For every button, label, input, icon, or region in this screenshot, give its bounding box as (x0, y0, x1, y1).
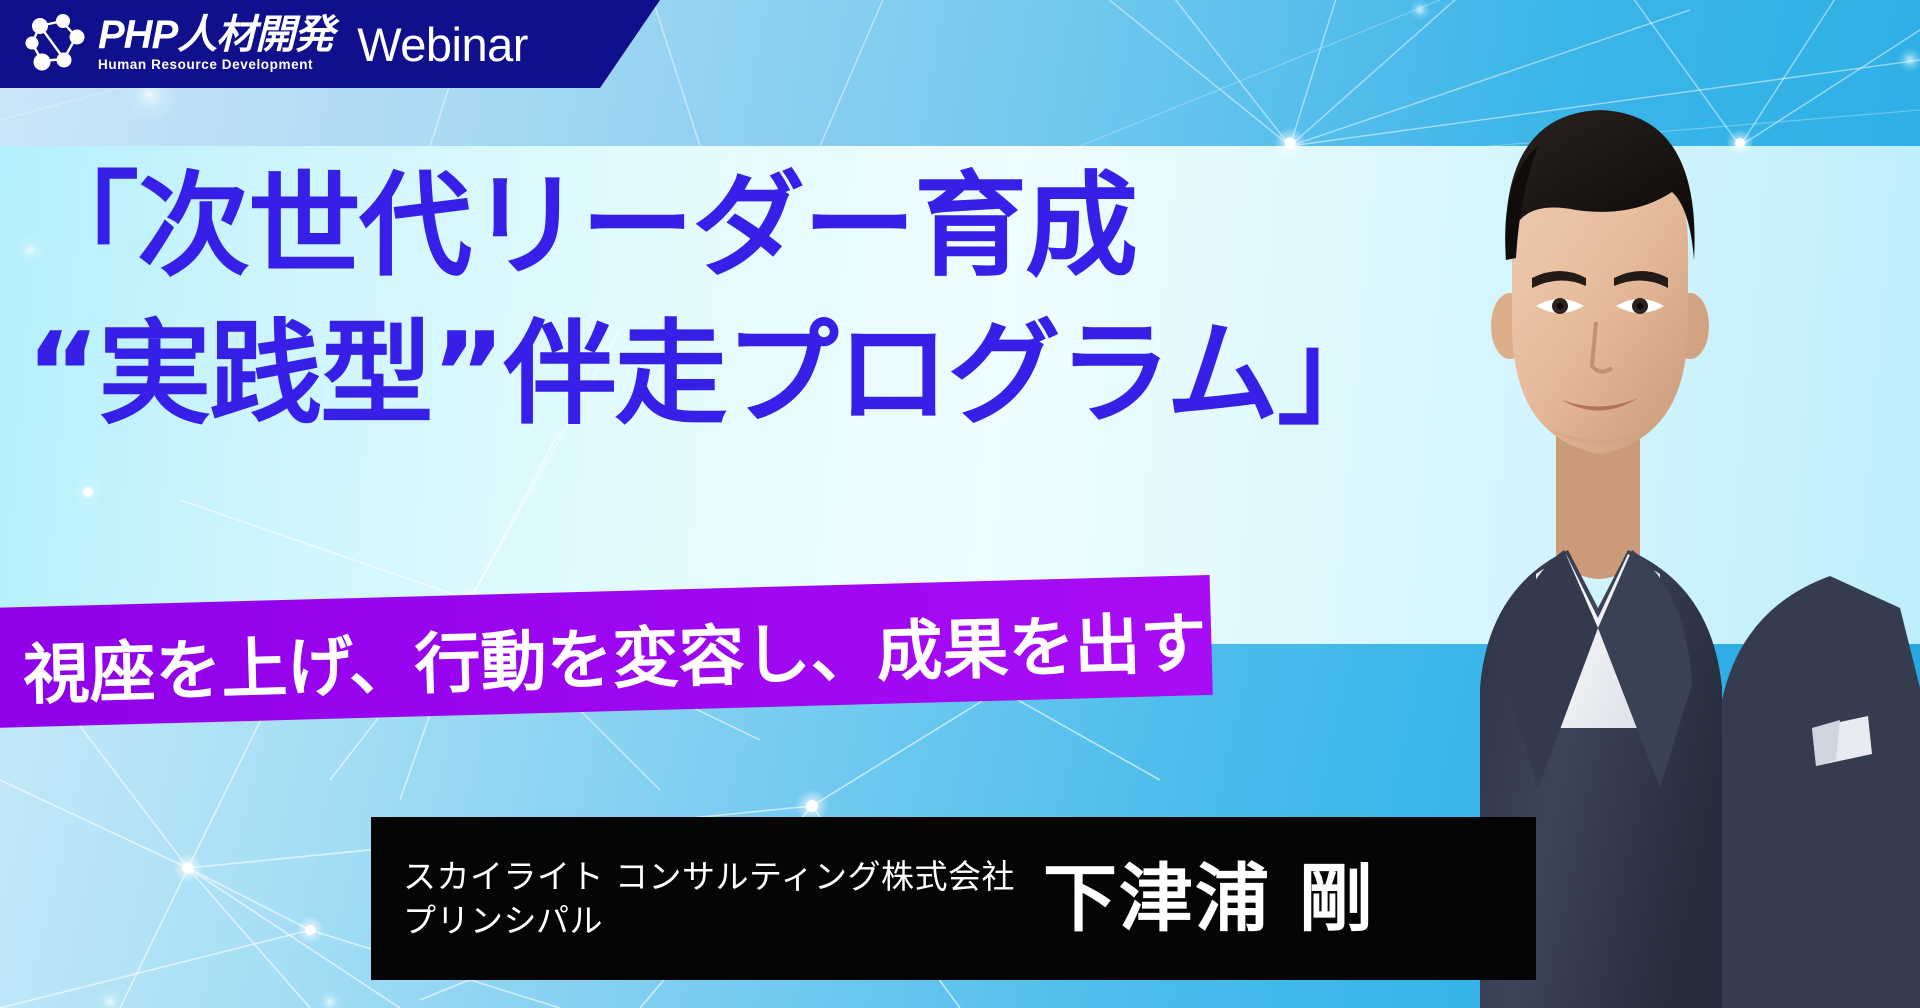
speaker-affiliation: スカイライト コンサルティング株式会社 プリンシパル (403, 855, 1015, 943)
logo-webinar-text: Webinar (357, 21, 528, 68)
network-nodes-icon (22, 9, 92, 79)
speaker-info-box: スカイライト コンサルティング株式会社 プリンシパル 下津浦 剛 (371, 817, 1536, 980)
title-line-1: 「次世代リーダー育成 (26, 152, 1388, 300)
logo-lockup: PHP人材開発 Human Resource Development Webin… (0, 0, 660, 88)
logo-main-text: PHP人材開発 (98, 15, 333, 55)
logo-sub-text: Human Resource Development (98, 57, 333, 73)
webinar-banner: PHP人材開発 Human Resource Development Webin… (0, 0, 1920, 1008)
page-title: 「次世代リーダー育成 “実践型”伴走プログラム」 (26, 152, 1388, 448)
speaker-role: プリンシパル (403, 899, 1015, 943)
title-line-2: “実践型”伴走プログラム」 (26, 300, 1388, 448)
speaker-company: スカイライト コンサルティング株式会社 (403, 855, 1015, 899)
speaker-name: 下津浦 剛 (1043, 860, 1375, 938)
